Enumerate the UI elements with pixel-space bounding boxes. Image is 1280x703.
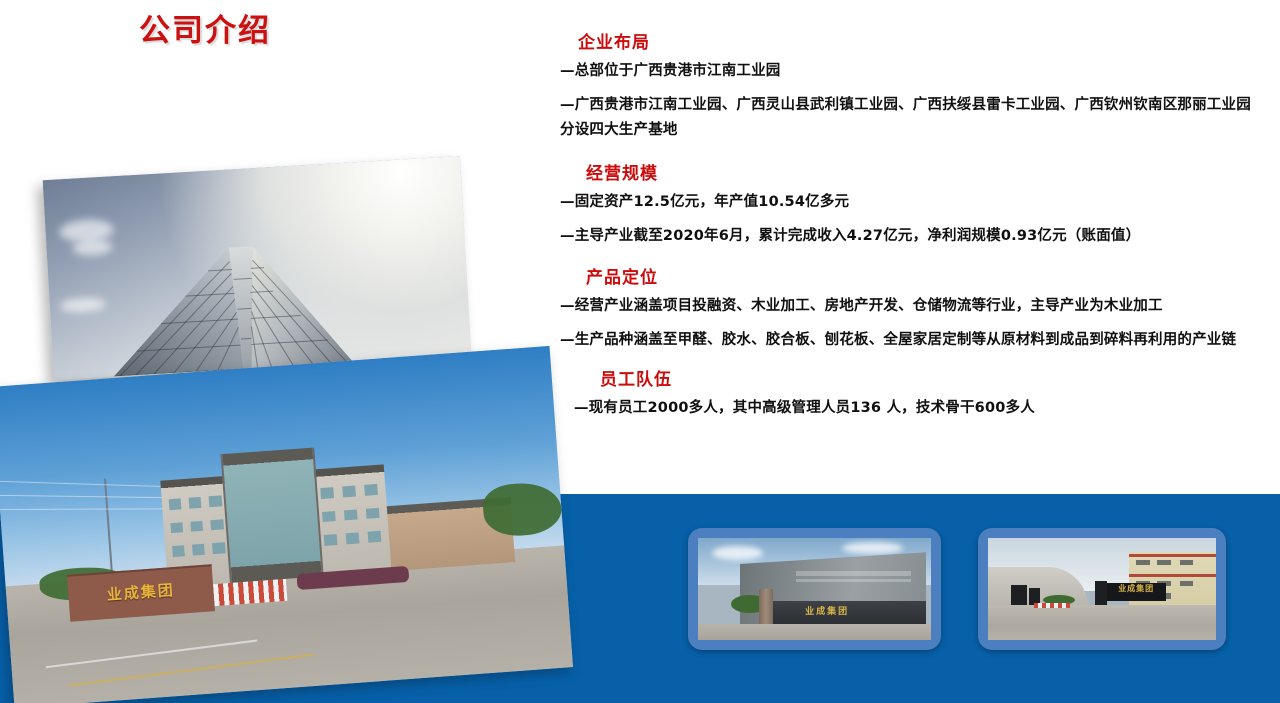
building-main-tower	[220, 447, 323, 582]
section-line: —现有员工2000多人，其中高级管理人员136 人，技术骨干600多人	[574, 396, 1260, 421]
ground-area	[698, 624, 931, 640]
section-heading: 企业布局	[578, 28, 1260, 53]
skyscraper-photo	[43, 156, 472, 380]
gate-pillar	[759, 589, 773, 624]
section-product-positioning: 产品定位 —经营产业涵盖项目投融资、木业加工、房地产开发、仓储物流等行业，主导产…	[560, 263, 1260, 353]
warehouse-thumbnail: 业成集团	[688, 528, 941, 650]
thumbnail-image: 业成集团	[988, 538, 1216, 640]
thumbnail-sign-text: 业成集团	[805, 603, 884, 617]
section-line: —生产品种涵盖至甲醛、胶水、胶合板、刨花板、全屋家居定制等从原材料到成品到碎料再…	[560, 328, 1260, 353]
section-business-scale: 经营规模 —固定资产12.5亿元，年产值10.54亿多元 —主导产业截至2020…	[560, 159, 1260, 249]
section-line: —主导产业截至2020年6月，累计完成收入4.27亿元，净利润规模0.93亿元（…	[560, 224, 1260, 249]
section-line: —固定资产12.5亿元，年产值10.54亿多元	[560, 190, 1260, 215]
section-staff-team: 员工队伍 —现有员工2000多人，其中高级管理人员136 人，技术骨干600多人	[560, 365, 1260, 421]
section-line: —经营产业涵盖项目投融资、木业加工、房地产开发、仓储物流等行业，主导产业为木业加…	[560, 294, 1260, 319]
page-title: 公司介绍	[139, 5, 271, 50]
section-company-layout: 企业布局 —总部位于广西贵港市江南工业园 —广西贵港市江南工业园、广西灵山县武利…	[560, 28, 1260, 143]
section-heading: 产品定位	[586, 263, 1260, 288]
gate-post	[1011, 585, 1027, 607]
section-line: —广西贵港市江南工业园、广西灵山县武利镇工业园、广西扶绥县雷卡工业园、广西钦州钦…	[560, 93, 1260, 143]
slide-canvas: 公司介绍	[0, 0, 1280, 703]
company-gate-photo: 业成集团	[0, 346, 573, 703]
road-barrier	[1034, 603, 1070, 608]
section-heading: 经营规模	[586, 159, 1260, 184]
section-heading: 员工队伍	[600, 365, 1260, 390]
gate-post	[1095, 581, 1106, 608]
thumbnail-sign-text: 业成集团	[1109, 584, 1164, 594]
tower-illustration	[43, 156, 472, 380]
ground-area	[988, 605, 1216, 640]
section-line: —总部位于广西贵港市江南工业园	[560, 59, 1260, 84]
plant-gate-thumbnail: 业成集团	[978, 528, 1226, 650]
thumbnail-image: 业成集团	[698, 538, 931, 640]
content-column: 企业布局 —总部位于广西贵港市江南工业园 —广西贵港市江南工业园、广西灵山县武利…	[560, 28, 1260, 430]
building-right-wing	[311, 465, 391, 576]
